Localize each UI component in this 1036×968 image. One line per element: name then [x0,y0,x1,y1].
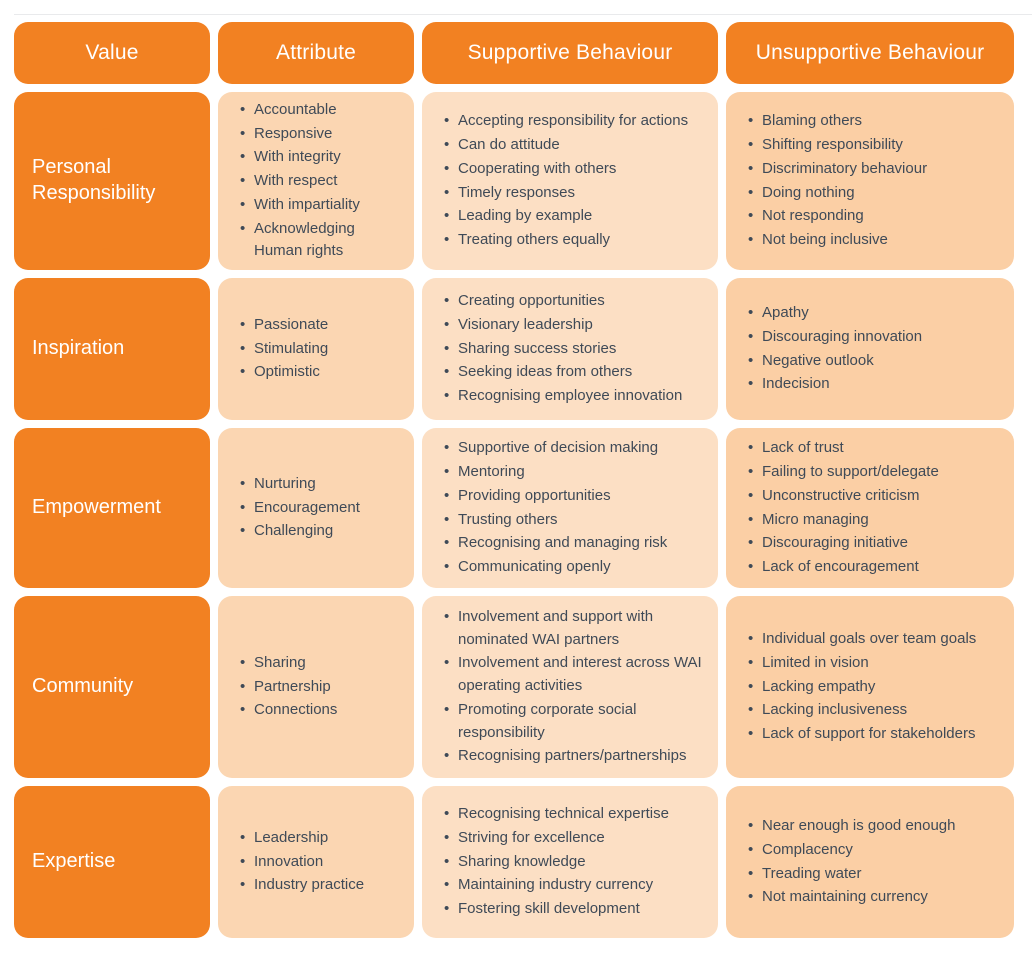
unsupportive-behaviour-list: Lack of trustFailing to support/delegate… [726,437,1014,579]
value-cell: Personal Responsibility [14,92,210,270]
list-item: Not maintaining currency [748,886,1000,909]
list-item: Leading by example [444,205,704,228]
column-header-value: Value [14,22,210,84]
list-item: Partnership [240,676,400,699]
unsupportive-behaviour-cell: Individual goals over team goalsLimited … [726,596,1014,778]
list-item: Lack of trust [748,437,1000,460]
table-row: Inspiration PassionateStimulatingOptimis… [0,278,1036,420]
value-label: Personal Responsibility [32,155,192,206]
list-item: Lack of encouragement [748,556,1000,579]
table-row: Personal Responsibility AccountableRespo… [0,92,1036,270]
list-item: Unconstructive criticism [748,485,1000,508]
list-item: Discriminatory behaviour [748,158,1000,181]
list-item: With impartiality [240,194,400,217]
list-item: Maintaining industry currency [444,874,704,897]
attribute-cell: NurturingEncouragementChallenging [218,428,414,588]
list-item: Lack of support for stakeholders [748,723,1000,746]
matrix-table: Value Attribute Supportive Behaviour Uns… [0,22,1036,938]
list-item: Connections [240,699,400,722]
unsupportive-behaviour-cell: Blaming othersShifting responsibilityDis… [726,92,1014,270]
value-label: Inspiration [32,336,124,362]
value-cell: Community [14,596,210,778]
list-item: Failing to support/delegate [748,461,1000,484]
list-item: Accepting responsibility for actions [444,110,704,133]
list-item: Trusting others [444,509,704,532]
list-item: Not being inclusive [748,229,1000,252]
attribute-cell: AccountableResponsiveWith integrityWith … [218,92,414,270]
value-cell: Expertise [14,786,210,938]
list-item: Not responding [748,205,1000,228]
top-divider [14,14,1032,15]
list-item: Responsive [240,123,400,146]
attribute-list: PassionateStimulatingOptimistic [218,314,414,384]
supportive-behaviour-cell: Involvement and support with nominated W… [422,596,718,778]
attribute-list: SharingPartnershipConnections [218,652,414,722]
table-row: Community SharingPartnershipConnections … [0,596,1036,778]
supportive-behaviour-list: Supportive of decision makingMentoringPr… [422,437,718,579]
list-item: Involvement and interest across WAI oper… [444,652,704,698]
attribute-list: AccountableResponsiveWith integrityWith … [218,99,414,264]
attribute-cell: PassionateStimulatingOptimistic [218,278,414,420]
list-item: Treading water [748,863,1000,886]
list-item: With integrity [240,146,400,169]
column-header-supportive-behaviour: Supportive Behaviour [422,22,718,84]
list-item: Sharing knowledge [444,851,704,874]
attribute-list: LeadershipInnovationIndustry practice [218,827,414,897]
supportive-behaviour-list: Recognising technical expertiseStriving … [422,803,718,921]
unsupportive-behaviour-cell: ApathyDiscouraging innovationNegative ou… [726,278,1014,420]
list-item: Communicating openly [444,556,704,579]
column-header-label: Value [85,41,138,64]
list-item: Cooperating with others [444,158,704,181]
list-item: Negative outlook [748,350,1000,373]
list-item: Discouraging initiative [748,532,1000,555]
list-item: Fostering skill development [444,898,704,921]
attribute-cell: SharingPartnershipConnections [218,596,414,778]
list-item: Acknowledging Human rights [240,218,400,264]
supportive-behaviour-list: Accepting responsibility for actionsCan … [422,110,718,252]
list-item: Treating others equally [444,229,704,252]
list-item: Recognising and managing risk [444,532,704,555]
column-header-label: Attribute [276,41,356,64]
list-item: Visionary leadership [444,314,704,337]
attribute-cell: LeadershipInnovationIndustry practice [218,786,414,938]
values-behaviour-matrix: Value Attribute Supportive Behaviour Uns… [0,0,1036,968]
supportive-behaviour-cell: Accepting responsibility for actionsCan … [422,92,718,270]
list-item: Striving for excellence [444,827,704,850]
list-item: Can do attitude [444,134,704,157]
table-header-row: Value Attribute Supportive Behaviour Uns… [0,22,1036,84]
list-item: Leadership [240,827,400,850]
value-label: Community [32,674,133,700]
list-item: Encouragement [240,497,400,520]
list-item: Accountable [240,99,400,122]
list-item: Indecision [748,373,1000,396]
list-item: Nurturing [240,473,400,496]
value-cell: Inspiration [14,278,210,420]
unsupportive-behaviour-list: Individual goals over team goalsLimited … [726,628,1014,746]
supportive-behaviour-cell: Creating opportunitiesVisionary leadersh… [422,278,718,420]
list-item: Limited in vision [748,652,1000,675]
column-header-label: Supportive Behaviour [468,41,673,64]
list-item: Mentoring [444,461,704,484]
unsupportive-behaviour-cell: Near enough is good enoughComplacencyTre… [726,786,1014,938]
list-item: Recognising technical expertise [444,803,704,826]
list-item: Seeking ideas from others [444,361,704,384]
attribute-list: NurturingEncouragementChallenging [218,473,414,543]
value-label: Expertise [32,849,115,875]
supportive-behaviour-cell: Supportive of decision makingMentoringPr… [422,428,718,588]
value-label: Empowerment [32,495,161,521]
list-item: Discouraging innovation [748,326,1000,349]
supportive-behaviour-cell: Recognising technical expertiseStriving … [422,786,718,938]
list-item: Lacking empathy [748,676,1000,699]
list-item: Lacking inclusiveness [748,699,1000,722]
list-item: Shifting responsibility [748,134,1000,157]
list-item: Recognising partners/partnerships [444,745,704,768]
list-item: Involvement and support with nominated W… [444,606,704,652]
column-header-attribute: Attribute [218,22,414,84]
unsupportive-behaviour-list: Blaming othersShifting responsibilityDis… [726,110,1014,252]
list-item: Doing nothing [748,182,1000,205]
value-cell: Empowerment [14,428,210,588]
list-item: Innovation [240,851,400,874]
list-item: Challenging [240,520,400,543]
list-item: Industry practice [240,874,400,897]
list-item: Recognising employee innovation [444,385,704,408]
list-item: Sharing [240,652,400,675]
list-item: Providing opportunities [444,485,704,508]
list-item: Micro managing [748,509,1000,532]
list-item: Timely responses [444,182,704,205]
unsupportive-behaviour-list: ApathyDiscouraging innovationNegative ou… [726,302,1014,396]
unsupportive-behaviour-list: Near enough is good enoughComplacencyTre… [726,815,1014,909]
list-item: Individual goals over team goals [748,628,1000,651]
list-item: Apathy [748,302,1000,325]
unsupportive-behaviour-cell: Lack of trustFailing to support/delegate… [726,428,1014,588]
list-item: Blaming others [748,110,1000,133]
list-item: Complacency [748,839,1000,862]
column-header-label: Unsupportive Behaviour [756,41,985,64]
list-item: Creating opportunities [444,290,704,313]
list-item: Near enough is good enough [748,815,1000,838]
supportive-behaviour-list: Creating opportunitiesVisionary leadersh… [422,290,718,408]
list-item: Optimistic [240,361,400,384]
list-item: Sharing success stories [444,338,704,361]
list-item: With respect [240,170,400,193]
list-item: Stimulating [240,338,400,361]
column-header-unsupportive-behaviour: Unsupportive Behaviour [726,22,1014,84]
table-row: Empowerment NurturingEncouragementChalle… [0,428,1036,588]
list-item: Supportive of decision making [444,437,704,460]
list-item: Passionate [240,314,400,337]
supportive-behaviour-list: Involvement and support with nominated W… [422,606,718,769]
table-row: Expertise LeadershipInnovationIndustry p… [0,786,1036,938]
list-item: Promoting corporate social responsibilit… [444,699,704,745]
